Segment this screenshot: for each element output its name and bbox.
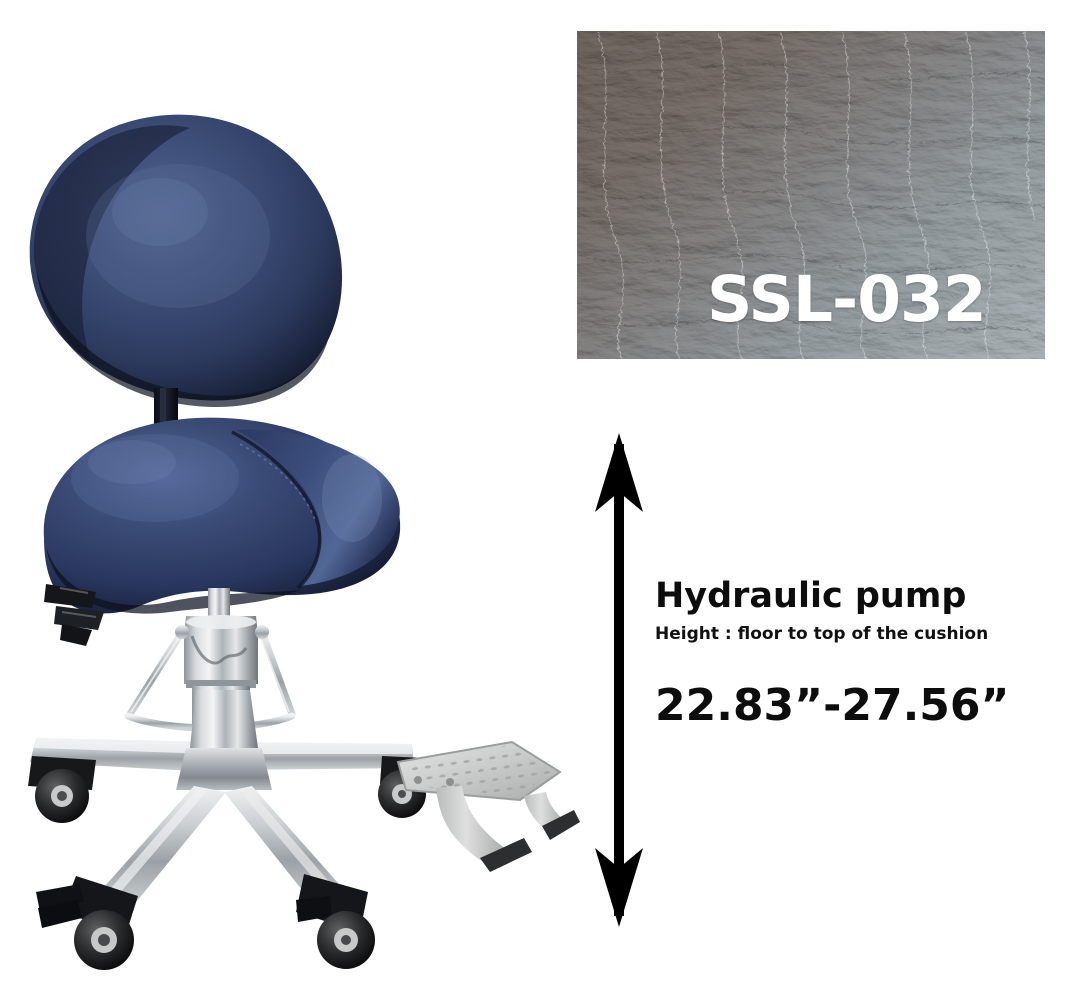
double-headed-vertical-arrow [588, 430, 650, 930]
spec-height-range: 22.83”-27.56” [655, 683, 1055, 729]
specification-block: Hydraulic pump Height : floor to top of … [655, 578, 1055, 730]
leather-swatch: SSL-032 [577, 31, 1045, 359]
product-image-canvas: SSL-032 Hydraulic pump Height : floor to… [0, 0, 1070, 1008]
saddle-stool-photo [0, 0, 580, 1008]
footrest-platform [398, 742, 580, 872]
caster [28, 756, 96, 823]
spec-subtitle: Height : floor to top of the cushion [655, 625, 1055, 644]
seat-adjustment-levers [44, 584, 104, 646]
spec-title: Hydraulic pump [655, 578, 1055, 616]
swatch-code-label: SSL-032 [707, 268, 986, 331]
saddle-seat-cushion [44, 418, 400, 614]
caster [296, 874, 375, 969]
backrest-cushion [30, 115, 342, 407]
